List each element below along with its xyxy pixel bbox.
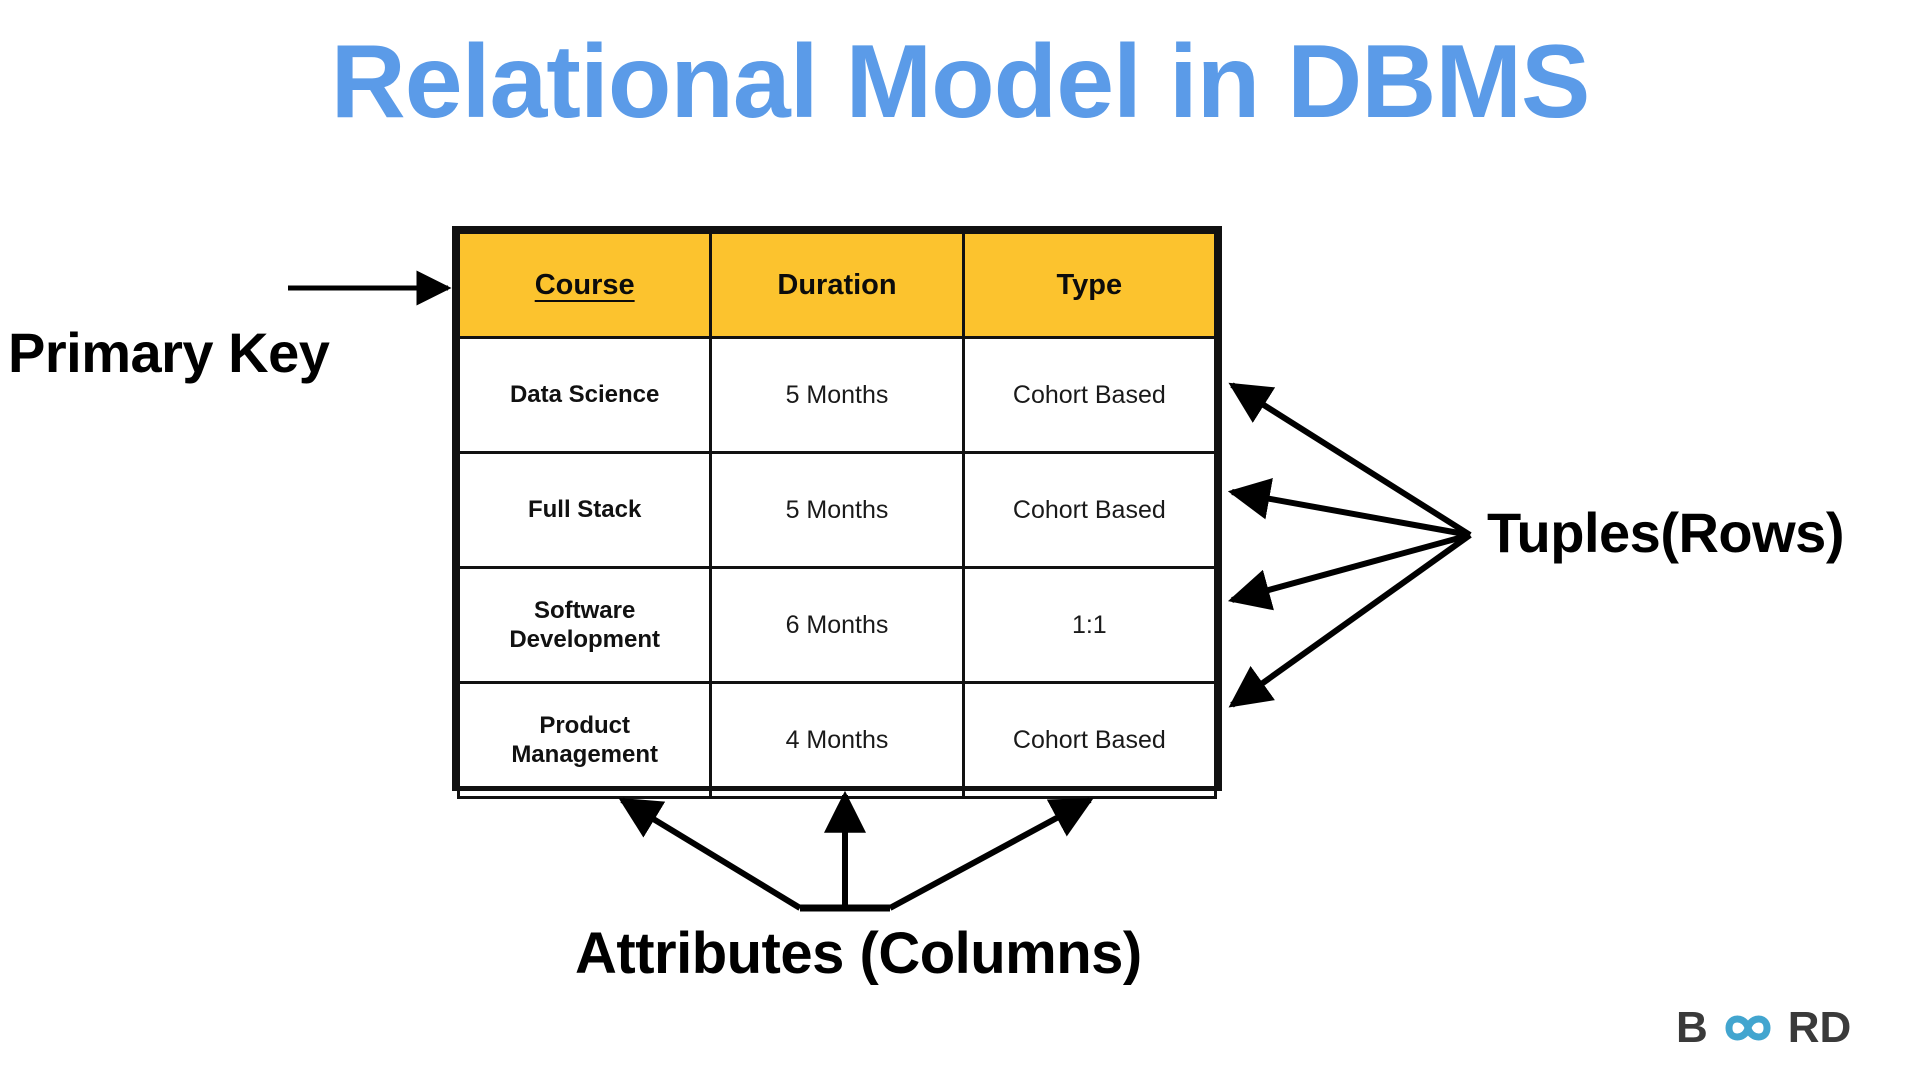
infinity-icon (1709, 1006, 1787, 1050)
cell-duration: 6 Months (711, 568, 963, 683)
logo-lead-text: B (1676, 1006, 1708, 1050)
column-header-duration: Duration (711, 233, 963, 338)
column-header-course: Course (459, 233, 711, 338)
cell-type: Cohort Based (963, 453, 1215, 568)
cell-duration: 4 Months (711, 683, 963, 798)
arrow-tuple-row-2 (1232, 492, 1470, 535)
label-primary-key: Primary Key (8, 320, 329, 385)
table-row: Data Science 5 Months Cohort Based (459, 338, 1216, 453)
page-title: Relational Model in DBMS (0, 28, 1920, 137)
cell-course: Product Management (459, 683, 711, 798)
board-logo: B RD (1676, 1002, 1851, 1054)
label-attributes: Attributes (Columns) (575, 920, 1142, 987)
relational-table: Course Duration Type Data Science 5 Mont… (452, 226, 1222, 791)
arrow-tuple-row-1 (1232, 385, 1470, 535)
cell-course: Software Development (459, 568, 711, 683)
table-row: Software Development 6 Months 1:1 (459, 568, 1216, 683)
table-row: Product Management 4 Months Cohort Based (459, 683, 1216, 798)
table-header-row: Course Duration Type (459, 233, 1216, 338)
cell-course: Data Science (459, 338, 711, 453)
label-tuples: Tuples(Rows) (1487, 500, 1844, 565)
arrow-tuple-row-3 (1232, 535, 1470, 600)
cell-course: Full Stack (459, 453, 711, 568)
column-header-course-label: Course (535, 269, 635, 301)
arrow-attribute-type (890, 800, 1090, 908)
cell-type: 1:1 (963, 568, 1215, 683)
cell-duration: 5 Months (711, 338, 963, 453)
cell-type: Cohort Based (963, 338, 1215, 453)
table-row: Full Stack 5 Months Cohort Based (459, 453, 1216, 568)
arrow-tuple-row-4 (1232, 535, 1470, 705)
column-header-type: Type (963, 233, 1215, 338)
cell-type: Cohort Based (963, 683, 1215, 798)
slide-canvas: Relational Model in DBMS Course Duration… (0, 0, 1920, 1080)
cell-duration: 5 Months (711, 453, 963, 568)
logo-trail-text: RD (1788, 1006, 1852, 1050)
arrow-attribute-course (622, 800, 800, 908)
